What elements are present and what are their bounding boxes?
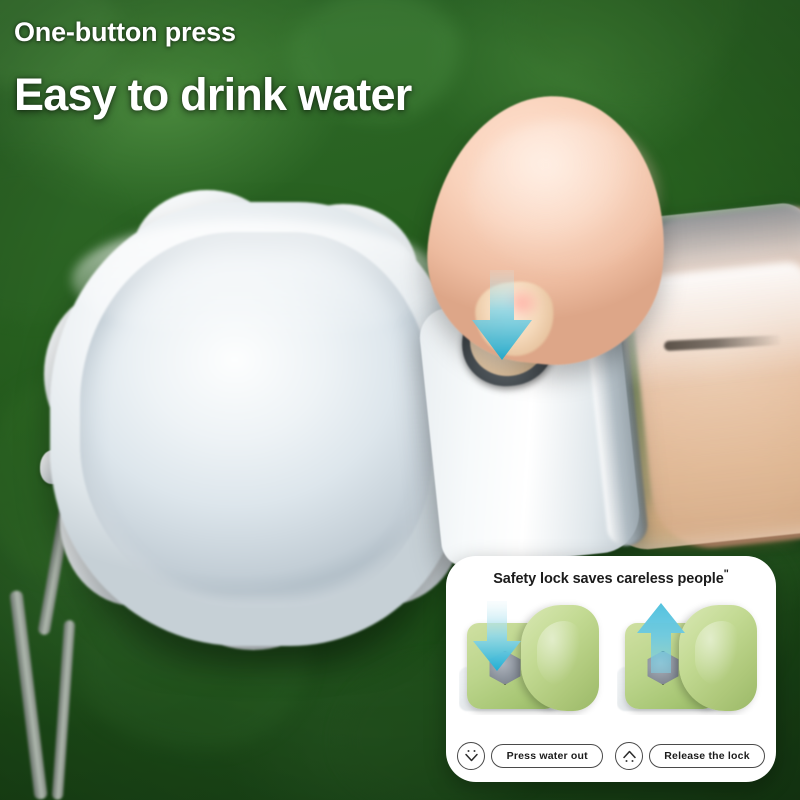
green-lid [679,605,757,711]
inset-figure-row [456,597,766,736]
figure-release-state [617,597,763,715]
caption-pill[interactable]: Release the lock [649,744,765,768]
safety-lock-inset-panel: Safety lock saves careless people" [446,556,776,782]
chevron-double-down-icon [457,742,485,770]
figure-press-state [459,597,605,715]
product-photo-stage: One-button press Easy to drink water Saf… [0,0,800,800]
flower-bowl [36,186,486,676]
caption-press-water-out[interactable]: Press water out [457,742,603,770]
caption-label: Press water out [507,750,588,762]
arrow-down-icon [469,601,525,673]
bowl-soft-layer [36,186,486,676]
inset-title-mark: " [724,568,729,580]
caption-label: Release the lock [664,750,750,762]
inset-caption-row: Press water out Release the lock [456,742,766,772]
headline-line-1: One-button press [14,18,654,46]
thumb-highlight [470,120,660,270]
caption-release-the-lock[interactable]: Release the lock [615,742,765,770]
caption-pill[interactable]: Press water out [491,744,603,768]
headline-block: One-button press Easy to drink water [14,18,654,118]
headline-line-2: Easy to drink water [14,72,654,118]
arrow-up-icon [633,601,689,673]
inset-title-text: Safety lock saves careless people [493,571,723,587]
press-arrow-down-icon [466,270,538,362]
bowl-rim-highlight [72,220,442,340]
green-lid [521,605,599,711]
inset-title: Safety lock saves careless people" [456,568,766,588]
chevron-double-up-icon [615,742,643,770]
